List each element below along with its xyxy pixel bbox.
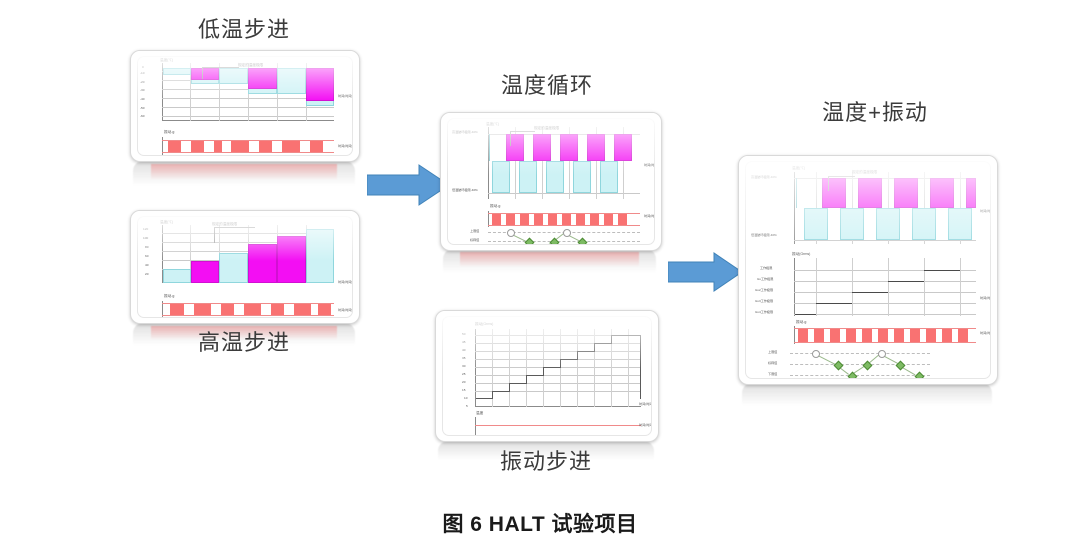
y-tick-label: 30: [462, 365, 465, 369]
step-tread: [526, 375, 543, 376]
y-tick-label: 5: [466, 405, 468, 409]
y-tick-label: 40: [145, 264, 148, 268]
vibration-pulse: [244, 304, 261, 315]
vibration-pulse: [910, 329, 920, 342]
profile-node: [525, 238, 535, 245]
high-temp-dwell: [966, 178, 976, 208]
level-segment: [888, 281, 924, 282]
low-temp-dwell: [600, 161, 618, 193]
vibration-pulse: [492, 214, 501, 225]
step-riser: [492, 391, 493, 399]
vibration-pulse: [878, 329, 888, 342]
low-temp-dwell: [546, 161, 564, 193]
temp-band: [163, 269, 191, 283]
level-label: 工作极限: [760, 267, 772, 271]
vibration-pulse: [958, 329, 968, 342]
step-tread: [543, 367, 560, 368]
step-tread: [594, 343, 611, 344]
annotation-leader-line: [202, 67, 239, 79]
y-tick-label: -20: [140, 81, 144, 85]
subplot-vibration-grms: [475, 329, 641, 407]
profile-label-lower: 下限值: [768, 373, 777, 377]
level-label: Gx4工作极限: [755, 311, 773, 315]
x-axis-right-label: 时间(时间): [639, 403, 652, 407]
y-tick-label: 50: [462, 333, 465, 337]
vibration-pulse: [214, 141, 222, 152]
annotation-temp-limit: 规定的温度极限: [238, 63, 263, 67]
low-temp-dwell: [573, 161, 591, 193]
chart-area-temp-vibration: 温度(℃) 高温破坏极限-40% 低温破坏极限-40% 规定的温度极限 时间(时…: [745, 161, 991, 379]
vibration-pulse: [520, 214, 529, 225]
low-temp-dwell: [840, 208, 864, 240]
axis-label-vibration-grms: 振动(Grms): [792, 252, 810, 256]
level-label: Gx2工作极限: [755, 289, 773, 293]
low-temp-dwell: [519, 161, 537, 193]
chart-area-temp-cycle: 温度(℃) 高温破坏极限-40% 低温破坏极限-40% 规定的温度极限 时间(时…: [447, 118, 655, 245]
annotation-leader-line: [828, 176, 855, 191]
y-tick-label: -50: [140, 107, 144, 111]
vibration-pulse: [294, 304, 311, 315]
axis-label-temperature: 温度(℃): [160, 220, 173, 224]
temp-band: [219, 253, 248, 283]
temp-step-block: [248, 244, 277, 283]
high-temp-dwell: [858, 178, 882, 208]
x-axis-right-label: 时间(时间): [338, 309, 352, 313]
x-axis-right-label: 时间(时间): [338, 95, 352, 99]
y-tick-label: 20: [462, 381, 465, 385]
vibration-pulse: [310, 141, 323, 152]
step-riser: [594, 343, 595, 352]
vibration-pulse: [926, 329, 936, 342]
vibration-pulse: [318, 304, 331, 315]
vibration-pulse: [830, 329, 840, 342]
profile-node: [812, 350, 820, 358]
level-segment: [852, 292, 888, 293]
profile-label-upper: 上限值: [768, 351, 777, 355]
y-tick-label: 40: [462, 349, 465, 353]
profile-label-nominal: 标称值: [768, 362, 777, 366]
vibration-pulse: [506, 214, 515, 225]
y-tick-label: -60: [140, 115, 144, 119]
temp-band: [277, 68, 306, 94]
axis-label-vibration: 振动-g: [164, 294, 174, 298]
subplot-vibration: [162, 137, 334, 155]
chart-card-hot-step[interactable]: 温度(℃) 120 100 80 60 40 20 规定的温度极限 时间(时间): [130, 210, 360, 324]
panel-title-vibration-step: 振动步进: [435, 444, 657, 476]
profile-node: [848, 372, 858, 379]
vibration-pulse: [168, 141, 181, 152]
vibration-pulse: [618, 214, 627, 225]
vibration-pulse: [534, 214, 543, 225]
vibration-pulse: [548, 214, 557, 225]
axis-label-temperature: 温度(℃): [792, 166, 805, 170]
profile-node: [550, 238, 560, 245]
step-riser: [611, 335, 612, 344]
chart-card-cold-step[interactable]: 温度(℃) 0 -10 -20 -30 -40 -50 -60 规定的温度极限 …: [130, 50, 360, 162]
vibration-pulse: [259, 141, 272, 152]
level-segment: [924, 270, 960, 271]
high-temp-dwell: [614, 134, 632, 161]
temp-step-block: [191, 261, 219, 283]
axis-label-vibration: 振动-g: [164, 130, 174, 134]
axis-label-temperature: 温度: [476, 411, 483, 415]
axis-label-vibration-grms: 振动(Grms): [475, 322, 493, 326]
vibration-pulse: [231, 141, 249, 152]
y-axis: [475, 329, 476, 407]
chart-card-temp-cycle[interactable]: 温度(℃) 高温破坏极限-40% 低温破坏极限-40% 规定的温度极限 时间(时…: [440, 112, 662, 251]
annotation-leader-line: [214, 227, 255, 243]
limit-label-low: 低温破坏极限-40%: [751, 234, 777, 238]
step-tread: [560, 359, 577, 360]
y-tick-label: 25: [462, 373, 465, 377]
profile-label-nominal: 标称值: [470, 239, 479, 243]
subplot-vibration: [794, 326, 976, 344]
step-riser: [577, 351, 578, 360]
vibration-pulse: [862, 329, 872, 342]
vibration-pulse: [604, 214, 613, 225]
subplot-temperature-baseline: [475, 417, 641, 435]
figure-caption: 图 6 HALT 试验项目: [0, 508, 1080, 538]
step-riser: [526, 375, 527, 384]
vibration-pulse: [221, 304, 234, 315]
level-label: Gx3工作极限: [755, 300, 773, 304]
temp-band: [306, 229, 334, 283]
figure-canvas: 低温步进: [0, 0, 1080, 549]
step-riser: [509, 383, 510, 392]
vibration-pulse: [798, 329, 808, 342]
x-axis-right-label: 时间(时间): [639, 424, 652, 428]
card-reflection-temp-cycle: [443, 249, 656, 287]
level-label: Gx工作极限: [757, 278, 773, 282]
card-reflection-cold-step: [133, 161, 355, 201]
annotation-temp-limit: 规定的温度极限: [852, 170, 877, 174]
y-tick-label: -10: [140, 72, 144, 76]
profile-label-upper: 上限值: [470, 230, 479, 234]
axis-label-vibration: 振动-g: [796, 320, 806, 324]
chart-area-vibration-step: 振动(Grms) 50 45 40 35 30 25 20 15 10 5 时间…: [442, 316, 652, 436]
vibration-pulse: [942, 329, 952, 342]
low-temp-dwell: [492, 161, 510, 193]
x-axis-right-label: 时间(时间): [644, 215, 655, 219]
temperature-baseline: [475, 425, 641, 426]
profile-node: [507, 229, 515, 237]
arrow-step-to-cycle: [367, 163, 451, 207]
step-riser: [640, 335, 641, 399]
limit-label-high: 高温破坏极限-40%: [751, 176, 777, 180]
subplot-vibration: [488, 211, 640, 227]
y-tick-label: 20: [145, 273, 148, 277]
y-axis: [794, 258, 795, 316]
vibration-pulse: [170, 304, 184, 315]
vibration-pulse: [846, 329, 856, 342]
y-tick-label: 15: [462, 389, 465, 393]
level-segment: [795, 314, 816, 315]
axis-label-temperature: 温度(℃): [160, 58, 173, 62]
limit-label-low: 低温破坏极限-40%: [452, 189, 478, 193]
vibration-pulse: [282, 141, 300, 152]
high-temp-dwell: [930, 178, 954, 208]
step-tread: [476, 398, 493, 399]
x-axis-right-label: 时间(时间): [338, 145, 352, 149]
y-tick-label: 0: [142, 66, 144, 70]
profile-node: [578, 238, 588, 245]
annotation-temp-limit: 规定的温度极限: [534, 126, 559, 130]
annotation-temp-limit: 规定的温度极限: [212, 222, 237, 226]
chart-area-hot-step: 温度(℃) 120 100 80 60 40 20 规定的温度极限 时间(时间): [137, 216, 353, 318]
x-axis-right-label: 时间(时间): [644, 164, 655, 168]
low-temp-dwell: [804, 208, 828, 240]
arrow-cycle-to-combined: [668, 251, 744, 293]
vibration-pulse: [191, 141, 204, 152]
card-reflection-temp-vibration: [742, 383, 992, 419]
axis-label-temperature: 温度(℃): [486, 122, 499, 126]
panel-title-temp-cycle: 温度循环: [432, 68, 662, 100]
y-tick-label: 35: [462, 357, 465, 361]
step-riser: [560, 359, 561, 368]
low-temp-dwell: [948, 208, 972, 240]
high-temp-dwell: [560, 134, 578, 161]
panel-title-cold-step: 低温步进: [130, 12, 358, 44]
vibration-pulse: [271, 304, 284, 315]
y-axis: [475, 417, 476, 435]
vibration-pulse: [590, 214, 599, 225]
high-temp-dwell: [533, 134, 551, 161]
low-temp-dwell: [912, 208, 936, 240]
vibration-pulse: [562, 214, 571, 225]
high-temp-dwell: [587, 134, 605, 161]
vibration-pulse: [194, 304, 211, 315]
y-tick-label: 100: [143, 237, 148, 241]
x-axis-right-label: 时间(时间): [338, 281, 352, 285]
temp-step-block: [277, 236, 306, 283]
step-tread: [611, 335, 640, 336]
y-tick-label: -30: [140, 89, 144, 93]
x-axis-right-label: 时间(时间): [980, 210, 991, 214]
limit-label-high: 高温破坏极限-40%: [452, 131, 478, 135]
level-segment: [816, 303, 852, 304]
chart-card-vibration-step[interactable]: 振动(Grms) 50 45 40 35 30 25 20 15 10 5 时间…: [435, 310, 659, 442]
y-tick-label: 120: [143, 228, 148, 232]
x-axis-right-label: 时间(时间): [980, 332, 991, 336]
subplot-temperature: [794, 172, 976, 244]
y-tick-label: 60: [145, 255, 148, 259]
panel-title-temp-vibration: 温度+振动: [755, 95, 995, 127]
chart-area-cold-step: 温度(℃) 0 -10 -20 -30 -40 -50 -60 规定的温度极限 …: [137, 56, 353, 156]
x-axis-right-label: 时间(时间): [980, 297, 991, 301]
profile-node: [915, 372, 925, 379]
y-tick-label: 80: [145, 246, 148, 250]
vibration-pulse: [894, 329, 904, 342]
temp-band: [163, 68, 191, 75]
profile-node: [563, 229, 571, 237]
y-tick-label: 45: [462, 341, 465, 345]
low-temp-dwell: [876, 208, 900, 240]
temp-step-block: [306, 68, 334, 101]
y-tick-label: 10: [464, 397, 467, 401]
step-tread: [492, 391, 509, 392]
subplot-vibration-levels: [794, 258, 976, 316]
subplot-profile: [488, 231, 640, 245]
subplot-temperature: [162, 63, 334, 121]
vibration-pulse: [576, 214, 585, 225]
temp-step-block: [248, 68, 277, 89]
y-tick-label: -40: [140, 98, 144, 102]
vibration-pulse: [814, 329, 824, 342]
axis-label-vibration: 振动-g: [490, 204, 500, 208]
chart-card-temp-vibration[interactable]: 温度(℃) 高温破坏极限-40% 低温破坏极限-40% 规定的温度极限 时间(时…: [738, 155, 998, 385]
subplot-vibration: [162, 301, 334, 317]
profile-node: [878, 350, 886, 358]
panel-title-hot-step: 高温步进: [130, 325, 358, 357]
step-riser: [543, 367, 544, 376]
y-axis: [794, 172, 795, 244]
high-temp-dwell: [894, 178, 918, 208]
step-tread: [577, 351, 594, 352]
step-tread: [509, 383, 526, 384]
x-axis: [475, 406, 641, 407]
annotation-leader-line: [510, 131, 535, 146]
subplot-profile: [790, 352, 930, 378]
